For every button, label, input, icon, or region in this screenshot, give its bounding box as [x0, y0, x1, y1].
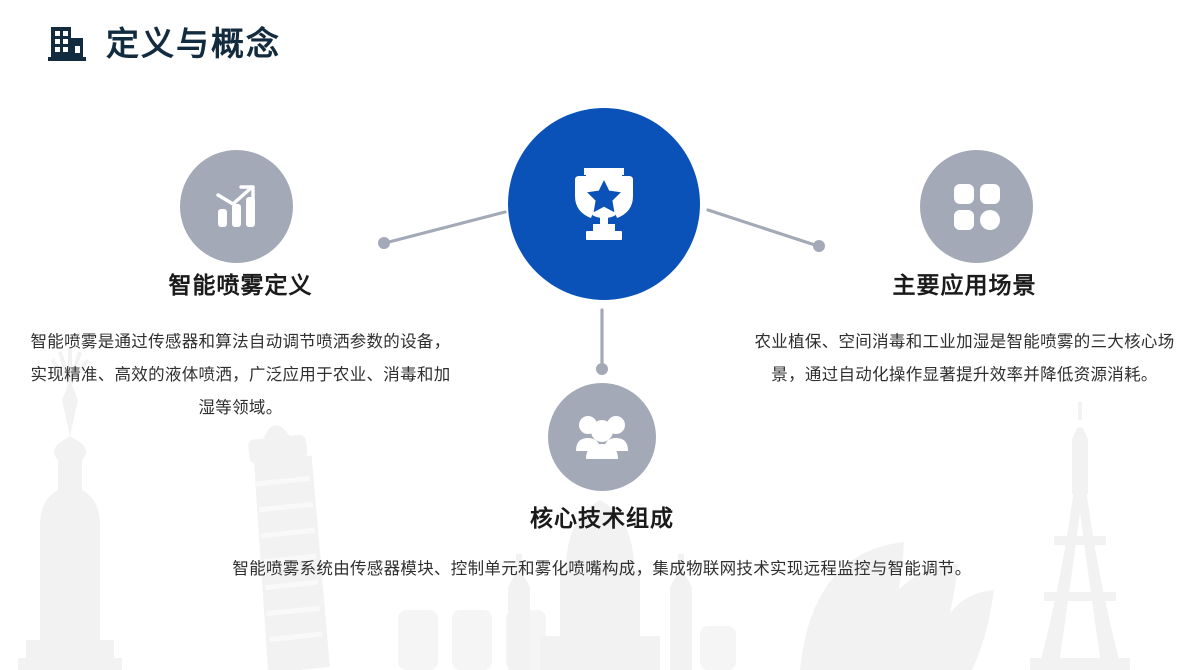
node-icon-right[interactable]: [920, 150, 1033, 263]
center-node-trophy[interactable]: [508, 108, 700, 300]
eiffel-tower-silhouette: [1030, 402, 1130, 670]
trophy-icon: [558, 158, 650, 250]
page-header: 定义与概念: [46, 22, 281, 64]
connector-dot-left: [378, 237, 390, 249]
node-title-left: 智能喷雾定义: [28, 272, 453, 300]
text-block-left: 智能喷雾定义 智能喷雾是通过传感器和算法自动调节喷洒参数的设备，实现精准、高效的…: [28, 272, 453, 425]
node-title-bottom: 核心技术组成: [182, 505, 1022, 533]
node-icon-bottom[interactable]: [548, 383, 656, 491]
node-body-left: 智能喷雾是通过传感器和算法自动调节喷洒参数的设备，实现精准、高效的液体喷洒，广泛…: [28, 326, 453, 425]
slide-canvas: 定义与概念: [0, 0, 1203, 670]
grid-apps-icon: [951, 181, 1003, 233]
people-group-icon: [574, 411, 630, 463]
text-block-bottom: 核心技术组成 智能喷雾系统由传感器模块、控制单元和雾化喷嘴构成，集成物联网技术实…: [182, 505, 1022, 586]
connector-dot-bottom: [596, 363, 608, 375]
connector-right: [708, 210, 818, 246]
node-body-bottom: 智能喷雾系统由传感器模块、控制单元和雾化喷嘴构成，集成物联网技术实现远程监控与智…: [182, 553, 1022, 586]
node-title-right: 主要应用场景: [752, 272, 1177, 300]
node-body-right: 农业植保、空间消毒和工业加湿是智能喷雾的三大核心场景，通过自动化操作显著提升效率…: [752, 326, 1177, 392]
building-icon: [46, 22, 88, 64]
connector-dot-right: [813, 240, 825, 252]
connector-left: [385, 212, 505, 243]
city-blocks-silhouette: [398, 610, 736, 670]
bar-chart-growth-icon: [209, 179, 265, 235]
node-icon-left[interactable]: [180, 150, 293, 263]
text-block-right: 主要应用场景 农业植保、空间消毒和工业加湿是智能喷雾的三大核心场景，通过自动化操…: [752, 272, 1177, 392]
page-title: 定义与概念: [106, 27, 281, 60]
